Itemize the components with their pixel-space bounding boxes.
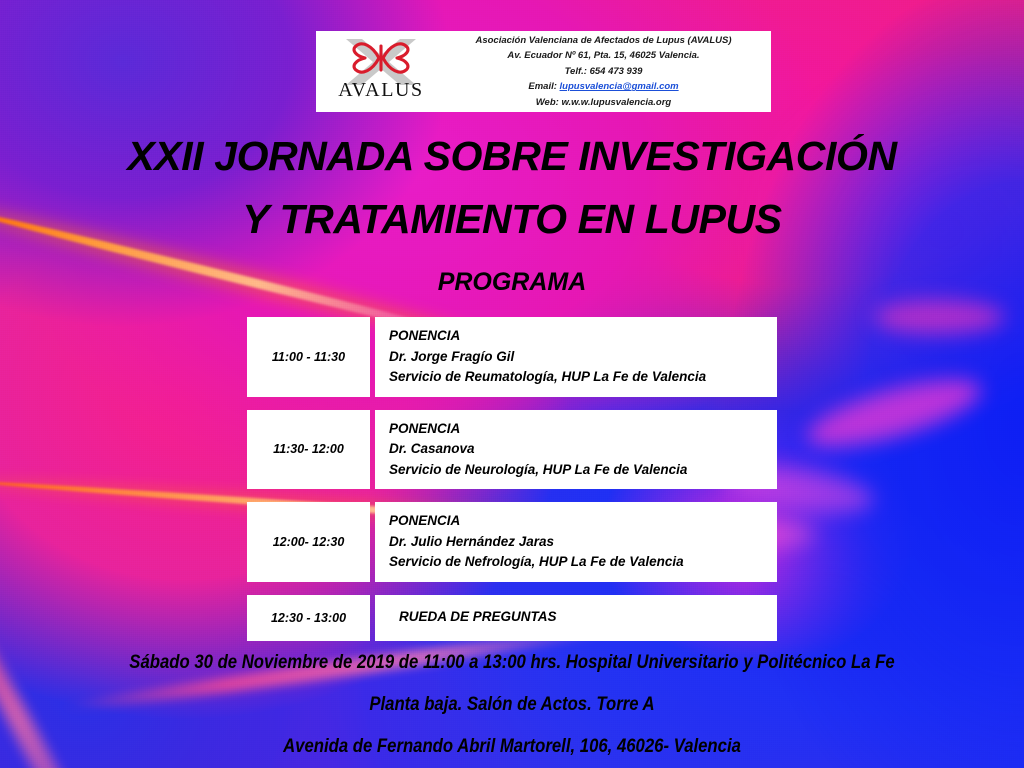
programa-heading: PROGRAMA [0, 268, 1024, 297]
session-affiliation: Servicio de Neurología, HUP La Fe de Val… [389, 460, 777, 481]
web-label: Web: [536, 97, 559, 108]
session-speaker: Dr. Julio Hernández Jaras [389, 532, 777, 553]
session-affiliation: Servicio de Reumatología, HUP La Fe de V… [389, 367, 777, 388]
org-email-line: Email: lupusvalencia@gmail.com [446, 79, 761, 94]
event-details-footer: Sábado 30 de Noviembre de 2019 de 11:00 … [0, 652, 1024, 768]
org-phone-line: Telf.: 654 473 939 [446, 64, 761, 79]
title-line-1: XXII JORNADA SOBRE INVESTIGACIÓN [0, 136, 1024, 177]
table-row: 12:30 - 13:00 RUEDA DE PREGUNTAS [247, 595, 777, 641]
session-speaker: Dr. Jorge Fragío Gil [389, 347, 777, 368]
program-time-cell: 11:30- 12:00 [247, 410, 370, 490]
org-name-line: Asociación Valenciana de Afectados de Lu… [446, 33, 761, 48]
program-time-cell: 11:00 - 11:30 [247, 317, 370, 397]
org-web-line: Web: w.w.w.lupusvalencia.org [446, 95, 761, 110]
session-affiliation: Servicio de Nefrología, HUP La Fe de Val… [389, 552, 777, 573]
email-link[interactable]: lupusvalencia@gmail.com [560, 81, 679, 92]
table-row: 11:30- 12:00 PONENCIA Dr. Casanova Servi… [247, 410, 777, 490]
email-label: Email: [528, 81, 557, 92]
program-content-cell: PONENCIA Dr. Casanova Servicio de Neurol… [375, 410, 777, 490]
table-row: 11:00 - 11:30 PONENCIA Dr. Jorge Fragío … [247, 317, 777, 397]
footer-line-datetime-venue: Sábado 30 de Noviembre de 2019 de 11:00 … [61, 652, 962, 674]
butterfly-icon [346, 37, 416, 79]
footer-line-room: Planta baja. Salón de Actos. Torre A [61, 694, 962, 716]
session-kind: RUEDA DE PREGUNTAS [399, 607, 557, 628]
program-content-cell: PONENCIA Dr. Julio Hernández Jaras Servi… [375, 502, 777, 582]
organization-header-band: AVALUS Asociación Valenciana de Afectado… [316, 31, 771, 112]
organization-contact-info: Asociación Valenciana de Afectados de Lu… [446, 33, 771, 110]
session-kind: PONENCIA [389, 511, 777, 532]
title-line-2: Y TRATAMIENTO EN LUPUS [0, 199, 1024, 240]
poster-title: XXII JORNADA SOBRE INVESTIGACIÓN Y TRATA… [0, 136, 1024, 240]
table-row: 12:00- 12:30 PONENCIA Dr. Julio Hernánde… [247, 502, 777, 582]
avalus-wordmark: AVALUS [316, 79, 446, 102]
program-time-cell: 12:30 - 13:00 [247, 595, 370, 641]
program-content-cell: RUEDA DE PREGUNTAS [375, 595, 777, 641]
program-time-cell: 12:00- 12:30 [247, 502, 370, 582]
session-kind: PONENCIA [389, 326, 777, 347]
web-value[interactable]: w.w.w.lupusvalencia.org [561, 97, 671, 108]
program-content-cell: PONENCIA Dr. Jorge Fragío Gil Servicio d… [375, 317, 777, 397]
org-address-line: Av. Ecuador Nº 61, Pta. 15, 46025 Valenc… [446, 48, 761, 63]
session-kind: PONENCIA [389, 419, 777, 440]
session-speaker: Dr. Casanova [389, 439, 777, 460]
program-table: 11:00 - 11:30 PONENCIA Dr. Jorge Fragío … [247, 317, 777, 654]
footer-line-address: Avenida de Fernando Abril Martorell, 106… [61, 736, 962, 758]
poster-canvas: AVALUS Asociación Valenciana de Afectado… [0, 0, 1024, 768]
avalus-logo: AVALUS [316, 31, 446, 112]
